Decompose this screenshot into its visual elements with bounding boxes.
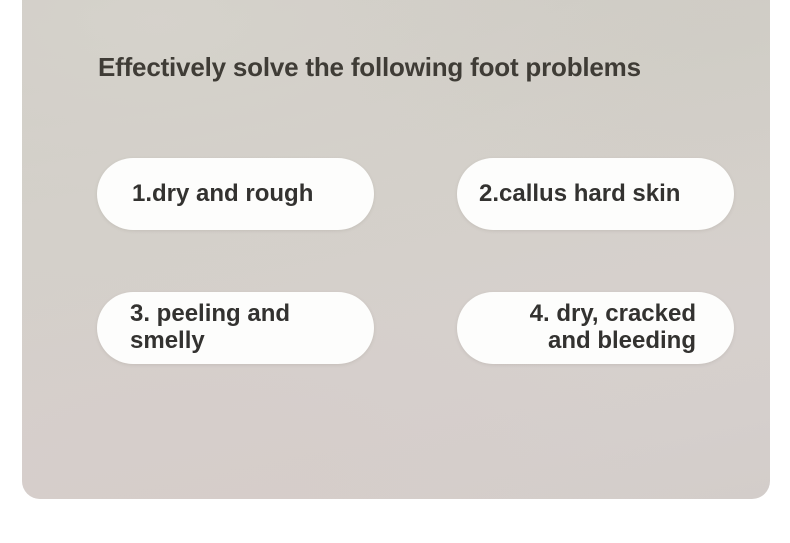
page-title: Effectively solve the following foot pro… — [98, 52, 641, 83]
problem-pill-3-label: 3. peeling and smelly — [97, 301, 374, 355]
problem-pill-2[interactable]: 2.callus hard skin — [457, 158, 734, 230]
problem-pill-4-label: 4. dry, cracked and bleeding — [457, 301, 734, 355]
problem-pill-1[interactable]: 1.dry and rough — [97, 158, 374, 230]
foot-problems-panel: Effectively solve the following foot pro… — [22, 0, 770, 499]
problem-pill-2-label: 2.callus hard skin — [457, 181, 734, 208]
screenshot-root: Effectively solve the following foot pro… — [0, 0, 790, 543]
problem-pill-3[interactable]: 3. peeling and smelly — [97, 292, 374, 364]
problem-pill-1-label: 1.dry and rough — [97, 181, 374, 208]
problem-pill-4[interactable]: 4. dry, cracked and bleeding — [457, 292, 734, 364]
